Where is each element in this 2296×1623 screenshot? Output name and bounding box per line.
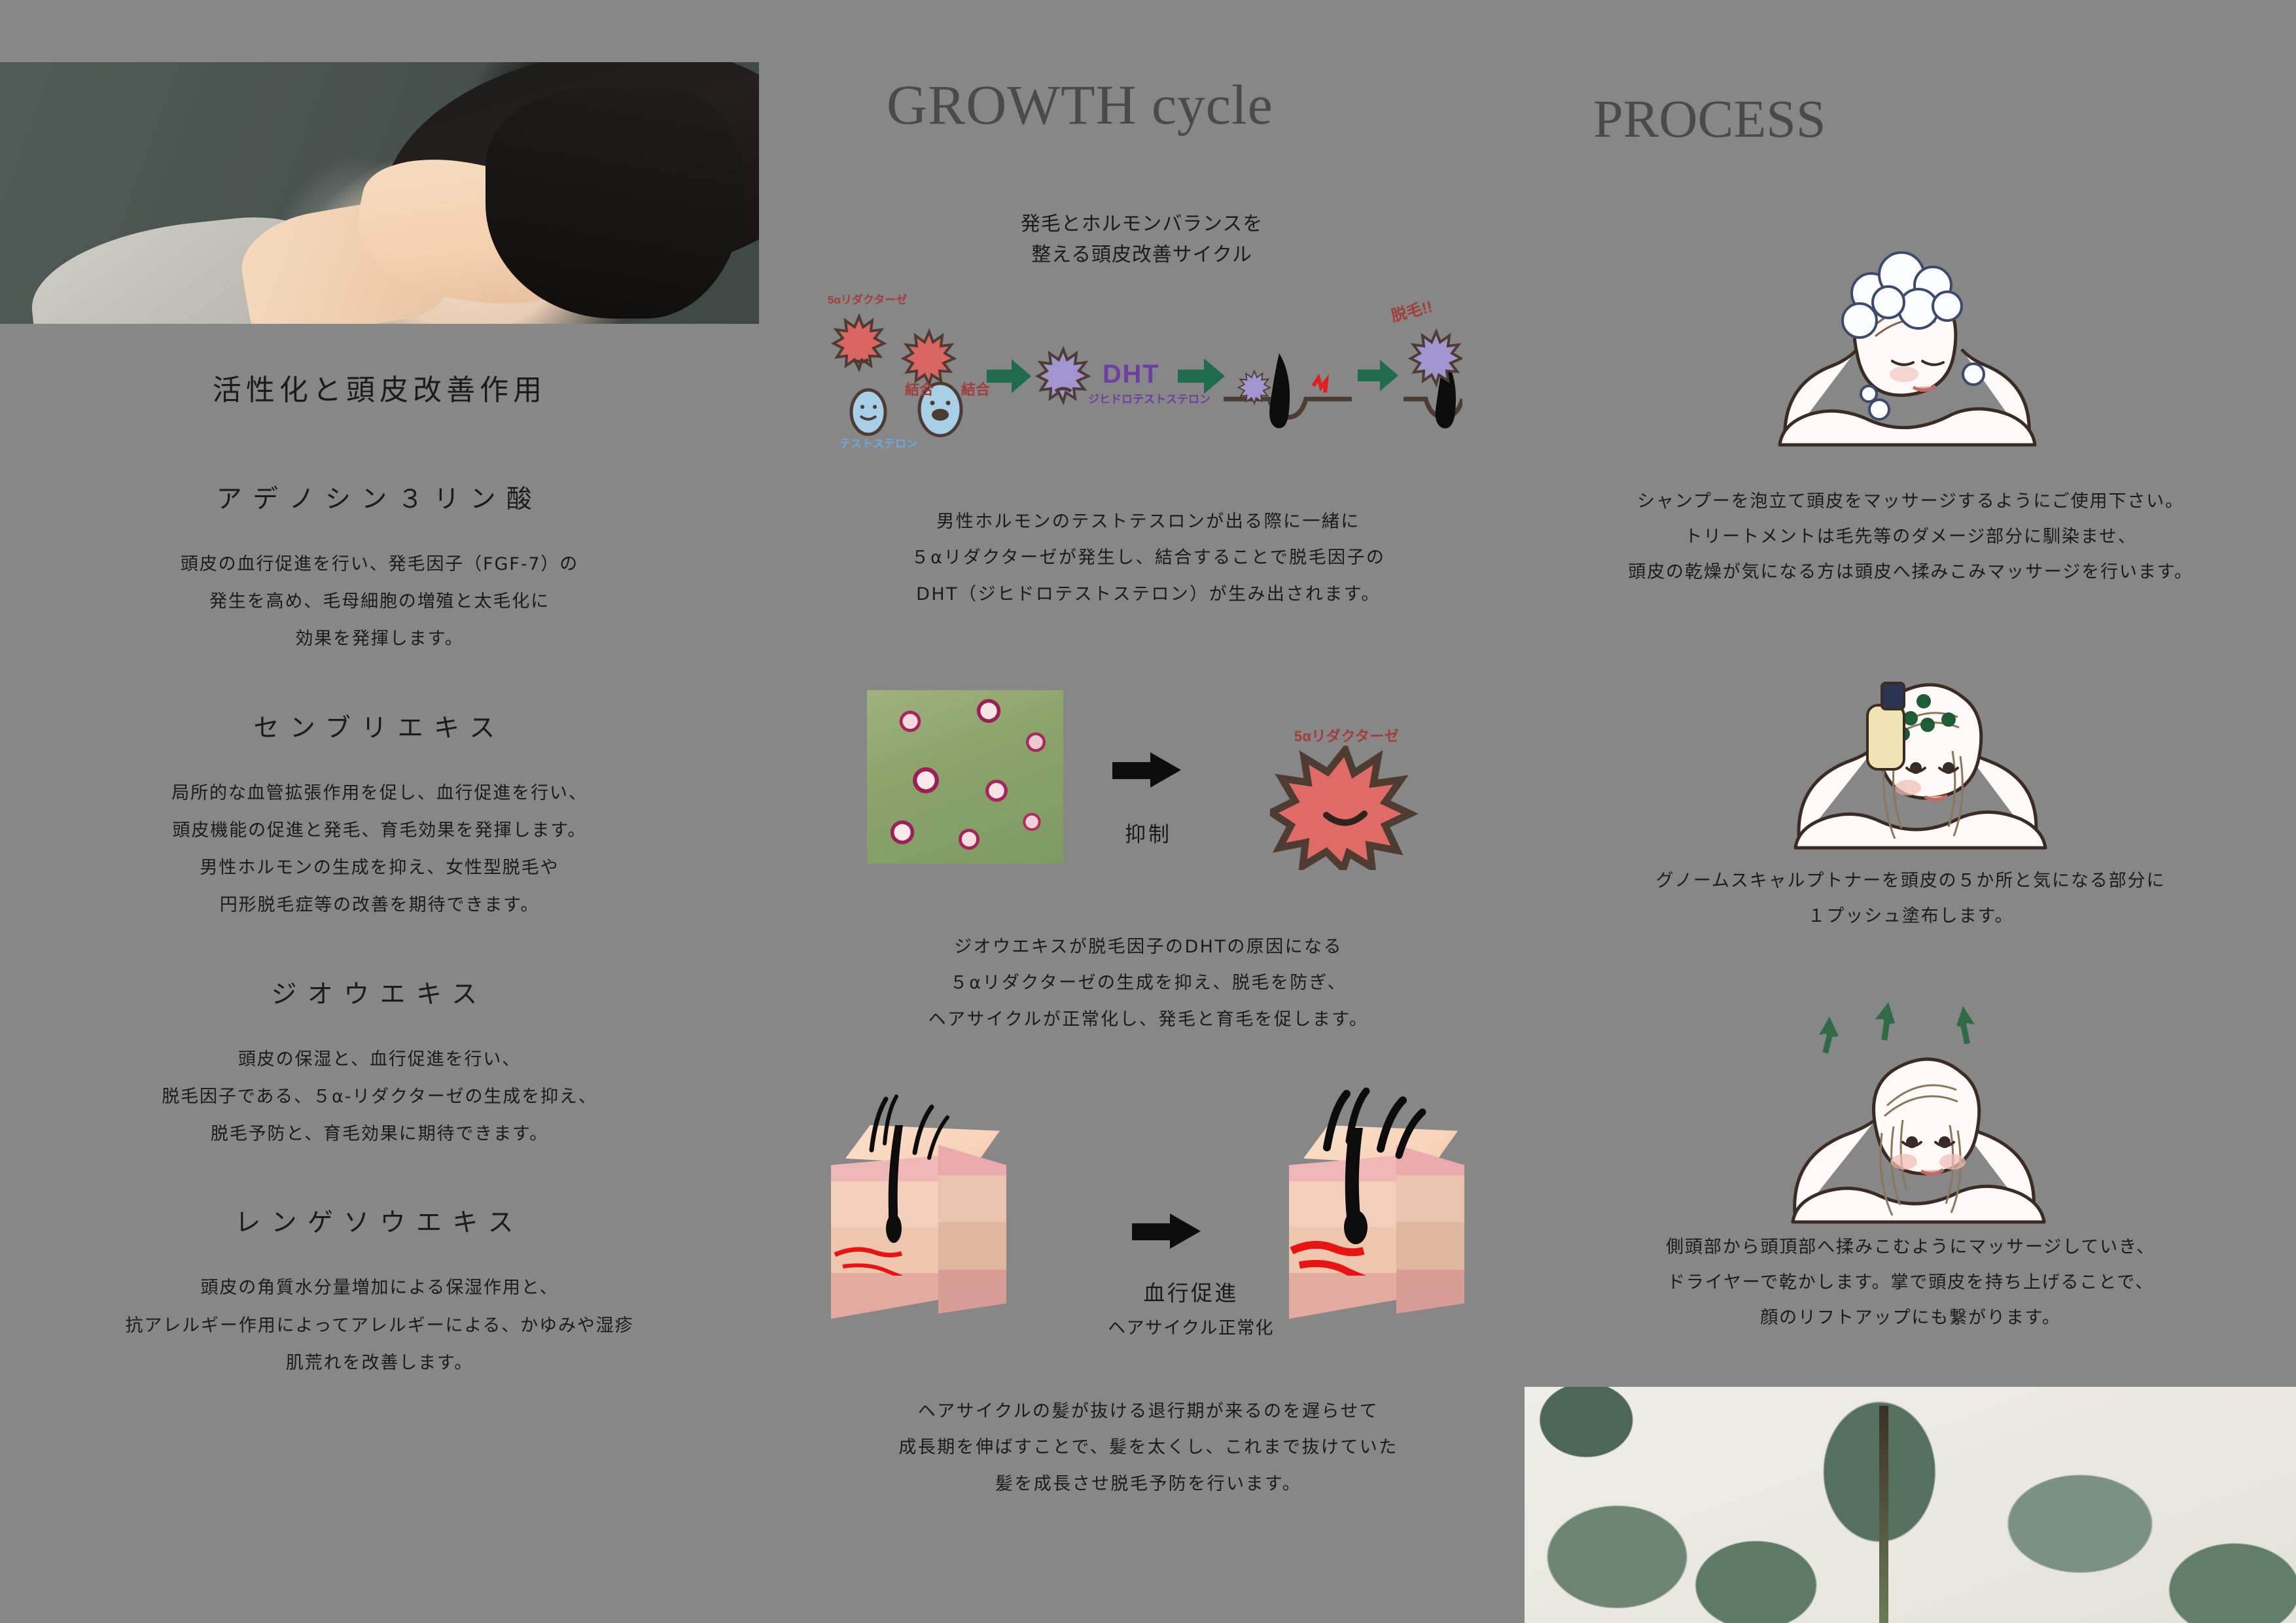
ingredient-line: 効果を発揮します。 <box>0 620 759 657</box>
ingredient-description: 局所的な血管拡張作用を促し、血行促進を行い、 頭皮機能の促進と発毛、育毛効果を発… <box>0 775 759 924</box>
step-line: 側頭部から頭頂部へ揉みこむようにマッサージしていき、 <box>1525 1230 2296 1265</box>
step-1-text: シャンプーを泡立て頭皮をマッサージするようにご使用下さい。 トリートメントは毛先… <box>1525 484 2296 590</box>
process-step-1: シャンプーを泡立て頭皮をマッサージするようにご使用下さい。 トリートメントは毛先… <box>1525 484 2296 590</box>
ingredients-section-title: 活性化と頭皮改善作用 <box>0 366 759 408</box>
illustration-massage <box>1727 1001 2094 1236</box>
hair-cycle-explanation-text: ヘアサイクルの髪が抜ける退行期が来るのを遅らせて 成長期を伸ばすことで、髪を太く… <box>818 1393 1479 1502</box>
jiou-line: ５αリダクターゼの生成を抑え、脱毛を防ぎ、 <box>818 965 1479 1001</box>
ingredient-block: レンゲソウエキス 頭皮の角質水分量増加による保湿作用と、 抗アレルギー作用によっ… <box>0 1202 759 1382</box>
process-step-2: グノームスキャルプトナーを頭皮の５か所と気になる部分に １プッシュ塗布します。 <box>1525 864 2296 934</box>
hormone-line: DHT（ジヒドロテストステロン）が生み出されます。 <box>811 576 1485 612</box>
hero-photo-hair-front <box>486 88 743 319</box>
label-testosterone-diagram: テストステロン <box>839 434 917 451</box>
illustration-toner <box>1727 628 2094 864</box>
process-step-3: 側頭部から頭頂部へ揉みこむようにマッサージしていき、 ドライヤーで乾かします。掌… <box>1525 1230 2296 1336</box>
step-line: ドライヤーで乾かします。掌で頭皮を持ち上げることで、 <box>1525 1265 2296 1300</box>
subtitle-line: 整える頭皮改善サイクル <box>766 240 1518 271</box>
ingredient-block: センブリエキス 局所的な血管拡張作用を促し、血行促進を行い、 頭皮機能の促進と発… <box>0 708 759 924</box>
plant-stem <box>1879 1406 1888 1623</box>
flower-photo-background <box>867 690 1063 864</box>
label-reductase-diagram: 5αリダクターゼ <box>828 290 907 307</box>
hair-cycle-normalize-label: ヘアサイクル正常化 <box>1086 1314 1296 1339</box>
cycle-line: 成長期を伸ばすことで、髪を太くし、これまで抜けていた <box>818 1429 1479 1465</box>
ingredient-description: 頭皮の保湿と、血行促進を行い、 脱毛因子である、５α‐リダクターゼの生成を抑え、… <box>0 1041 759 1153</box>
skin-cross-section-row <box>831 1099 1485 1348</box>
step-line: 頭皮の乾燥が気になる方は頭皮へ揉みこみマッサージを行います。 <box>1525 555 2296 590</box>
jiou-line: ヘアサイクルが正常化し、発毛と育毛を促します。 <box>818 1002 1479 1038</box>
blood-flow-arrow-icon <box>1132 1213 1201 1249</box>
inhibit-label: 抑制 <box>1106 818 1191 848</box>
skin-cube-before <box>831 1125 1021 1321</box>
reductase-target-group: 5αリダクターゼ <box>1260 733 1430 864</box>
step-2-text: グノームスキャルプトナーを頭皮の５か所と気になる部分に １プッシュ塗布します。 <box>1525 864 2296 934</box>
skin-cube-after <box>1289 1125 1479 1321</box>
massage-figure-svg <box>1727 1001 2094 1236</box>
subtitle-line: 発毛とホルモンバランスを <box>766 209 1518 240</box>
ingredient-line: 頭皮の角質水分量増加による保湿作用と、 <box>0 1269 759 1306</box>
hormone-explanation-text: 男性ホルモンのテストテスロンが出る際に一緒に ５αリダクターゼが発生し、結合する… <box>811 504 1485 612</box>
step-3-text: 側頭部から頭頂部へ揉みこむようにマッサージしていき、 ドライヤーで乾かします。掌… <box>1525 1230 2296 1336</box>
skin-hairs-after <box>1289 1079 1479 1276</box>
ingredient-name: アデノシン３リン酸 <box>0 479 759 515</box>
step-line: グノームスキャルプトナーを頭皮の５か所と気になる部分に <box>1525 864 2296 899</box>
hero-photo <box>0 62 759 324</box>
label-reductase-target: 5αリダクターゼ <box>1271 725 1422 746</box>
ingredient-description: 頭皮の血行促進を行い、発毛因子（FGF-7）の 発生を高め、毛母細胞の増殖と太毛… <box>0 546 759 658</box>
ingredient-line: 男性ホルモンの生成を抑え、女性型脱毛や <box>0 849 759 886</box>
ingredient-name: ジオウエキス <box>0 974 759 1011</box>
plant-photo <box>1525 1387 2296 1623</box>
label-dht: DHT <box>1103 360 1159 389</box>
ingredient-name: レンゲソウエキス <box>0 1202 759 1239</box>
plant-photo-background <box>1525 1387 2296 1623</box>
growth-cycle-title: GROWTH cycle <box>887 72 1273 137</box>
label-bond-right: 結合 <box>961 378 990 399</box>
ingredient-block: アデノシン３リン酸 頭皮の血行促進を行い、発毛因子（FGF-7）の 発生を高め、… <box>0 479 759 658</box>
step-line: 顔のリフトアップにも繋がります。 <box>1525 1300 2296 1336</box>
ingredient-line: 肌荒れを改善します。 <box>0 1344 759 1382</box>
label-dht-reading: ジヒドロテストステロン <box>1088 390 1210 406</box>
hormone-stage-diagram: 5αリダクターゼ テストステロン 結合 結合 DHT ジヒドロテストステロン 脱… <box>821 294 1462 445</box>
blood-flow-label: 血行促進 <box>1106 1276 1276 1307</box>
hormone-line: ５αリダクターゼが発生し、結合することで脱毛因子の <box>811 540 1485 576</box>
step-line: シャンプーを泡立て頭皮をマッサージするようにご使用下さい。 <box>1525 484 2296 519</box>
ingredient-description: 頭皮の角質水分量増加による保湿作用と、 抗アレルギー作用によってアレルギーによる… <box>0 1269 759 1382</box>
growth-cycle-subtitle: 発毛とホルモンバランスを 整える頭皮改善サイクル <box>766 209 1518 270</box>
label-bond-left: 結合 <box>905 378 934 399</box>
ingredient-line: 脱毛因子である、５α‐リダクターゼの生成を抑え、 <box>0 1078 759 1115</box>
step-line: トリートメントは毛先等のダメージ部分に馴染ませ、 <box>1525 519 2296 555</box>
ingredient-line: 頭皮の血行促進を行い、発毛因子（FGF-7）の <box>0 546 759 583</box>
brochure-page: 活性化と頭皮改善作用 アデノシン３リン酸 頭皮の血行促進を行い、発毛因子（FGF… <box>0 0 2296 1623</box>
cycle-line: 髪を成長させ脱毛予防を行います。 <box>818 1466 1479 1502</box>
ingredient-line: 抗アレルギー作用によってアレルギーによる、かゆみや湿疹 <box>0 1307 759 1344</box>
hormone-line: 男性ホルモンのテストテスロンが出る際に一緒に <box>811 504 1485 540</box>
jiou-explanation-text: ジオウエキスが脱毛因子のDHTの原因になる ５αリダクターゼの生成を抑え、脱毛を… <box>818 929 1479 1038</box>
ingredient-line: 頭皮の保湿と、血行促進を行い、 <box>0 1041 759 1078</box>
shampoo-figure-svg <box>1708 222 2100 471</box>
ingredient-line: 円形脱毛症等の改善を期待できます。 <box>0 886 759 924</box>
ingredient-name: センブリエキス <box>0 708 759 744</box>
skin-hairs-before <box>831 1079 1021 1276</box>
process-title: PROCESS <box>1593 88 1826 150</box>
ingredient-line: 脱毛予防と、育毛効果に期待できます。 <box>0 1115 759 1153</box>
ingredient-line: 発生を高め、毛母細胞の増殖と太毛化に <box>0 583 759 620</box>
ingredients-column: 活性化と頭皮改善作用 アデノシン３リン酸 頭皮の血行促進を行い、発毛因子（FGF… <box>0 366 759 1431</box>
illustration-shampoo <box>1708 222 2100 471</box>
toner-figure-svg <box>1727 628 2094 864</box>
inhibit-arrow-icon <box>1112 752 1181 788</box>
flower-photo <box>867 690 1063 864</box>
ingredient-line: 頭皮機能の促進と発毛、育毛効果を発揮します。 <box>0 812 759 849</box>
ingredient-block: ジオウエキス 頭皮の保湿と、血行促進を行い、 脱毛因子である、５α‐リダクターゼ… <box>0 974 759 1153</box>
step-line: １プッシュ塗布します。 <box>1525 899 2296 934</box>
reductase-character-icon <box>1270 746 1421 870</box>
cycle-line: ヘアサイクルの髪が抜ける退行期が来るのを遅らせて <box>818 1393 1479 1429</box>
jiou-line: ジオウエキスが脱毛因子のDHTの原因になる <box>818 929 1479 965</box>
ingredient-line: 局所的な血管拡張作用を促し、血行促進を行い、 <box>0 775 759 812</box>
